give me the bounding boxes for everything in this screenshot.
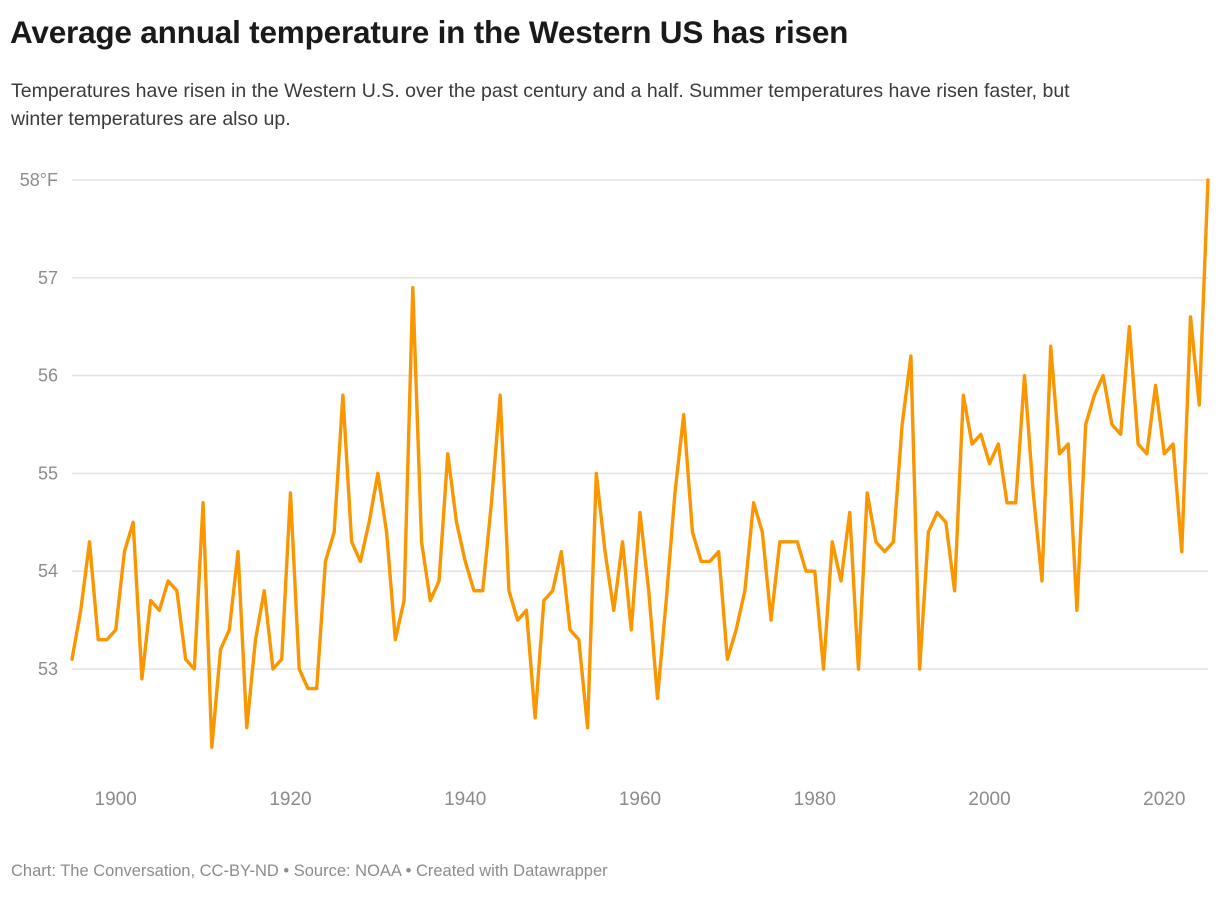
y-axis-tick-label: 58°F — [20, 170, 58, 190]
data-line-series[interactable] — [72, 180, 1208, 747]
gridlines-group — [72, 180, 1208, 669]
x-axis-tick-label: 1980 — [794, 789, 836, 810]
line-chart-svg: 58°F5756555453 1900192019401960198020002… — [0, 160, 1220, 820]
x-axis-tick-label: 1960 — [619, 789, 661, 810]
data-series-group — [72, 180, 1208, 747]
chart-subtitle: Temperatures have risen in the Western U… — [11, 78, 1121, 133]
y-axis-tick-label: 55 — [38, 463, 58, 483]
chart-credit: Chart: The Conversation, CC-BY-ND • Sour… — [11, 862, 608, 881]
y-axis-labels-group: 58°F5756555453 — [20, 170, 58, 679]
y-axis-tick-label: 57 — [38, 268, 58, 288]
y-axis-tick-label: 56 — [38, 366, 58, 386]
x-axis-tick-label: 1940 — [444, 789, 486, 810]
x-axis-tick-label: 1920 — [269, 789, 311, 810]
x-axis-tick-label: 2000 — [968, 789, 1010, 810]
y-axis-tick-label: 53 — [38, 659, 58, 679]
chart-title: Average annual temperature in the Wester… — [10, 14, 848, 50]
x-axis-tick-label: 2020 — [1143, 789, 1185, 810]
plot-area: 58°F5756555453 1900192019401960198020002… — [0, 160, 1220, 820]
x-axis-tick-label: 1900 — [95, 789, 137, 810]
chart-container: Average annual temperature in the Wester… — [0, 0, 1220, 898]
y-axis-tick-label: 54 — [38, 561, 58, 581]
x-axis-labels-group: 1900192019401960198020002020 — [95, 789, 1186, 810]
